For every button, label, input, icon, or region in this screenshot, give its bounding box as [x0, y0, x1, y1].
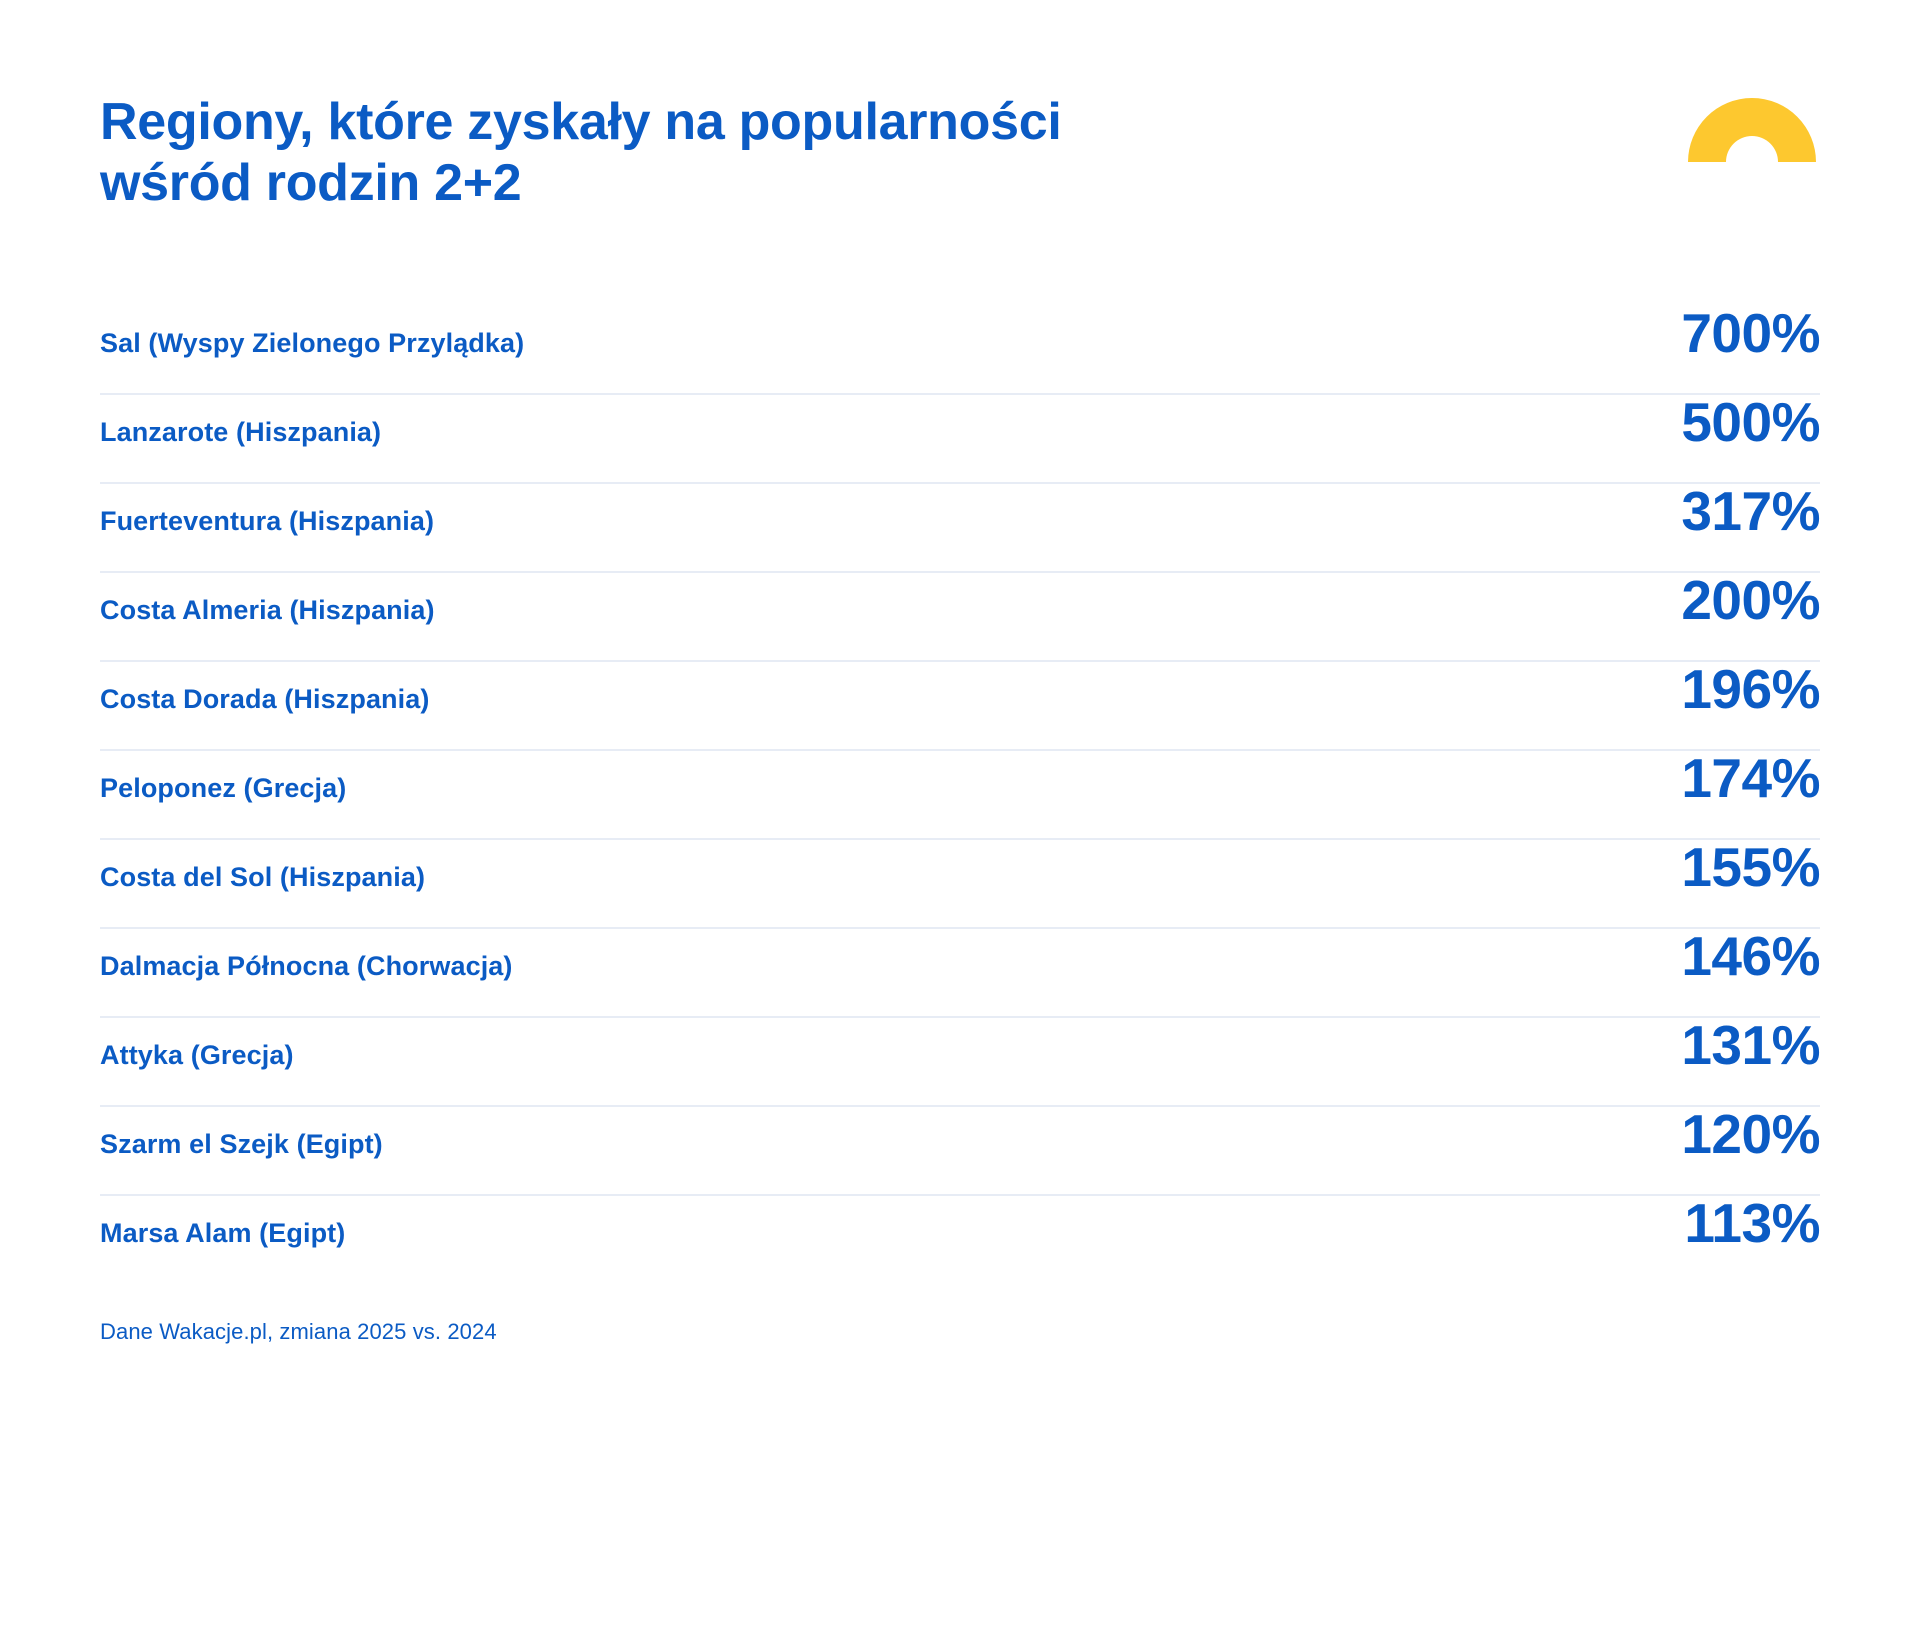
table-row: Costa Dorada (Hiszpania) 196%: [100, 662, 1820, 751]
table-row: Dalmacja Północna (Chorwacja) 146%: [100, 929, 1820, 1018]
table-row: Lanzarote (Hiszpania) 500%: [100, 395, 1820, 484]
source-note: Dane Wakacje.pl, zmiana 2025 vs. 2024: [100, 1319, 1820, 1345]
header: Regiony, które zyskały na popularności w…: [100, 0, 1820, 214]
region-value: 155%: [1620, 840, 1820, 895]
table-row: Sal (Wyspy Zielonego Przylądka) 700%: [100, 306, 1820, 395]
region-value: 120%: [1620, 1107, 1820, 1162]
region-value: 196%: [1620, 662, 1820, 717]
region-value: 146%: [1620, 929, 1820, 984]
table-row: Attyka (Grecja) 131%: [100, 1018, 1820, 1107]
region-label: Fuerteventura (Hiszpania): [100, 506, 434, 537]
region-value: 500%: [1620, 395, 1820, 450]
region-list: Sal (Wyspy Zielonego Przylądka) 700% Lan…: [100, 306, 1820, 1285]
region-value: 174%: [1620, 751, 1820, 806]
page-title-line-1: Regiony, które zyskały na popularności: [100, 92, 1061, 153]
region-label: Costa del Sol (Hiszpania): [100, 862, 425, 893]
page-title: Regiony, które zyskały na popularności w…: [100, 92, 1061, 214]
region-label: Marsa Alam (Egipt): [100, 1218, 345, 1249]
page-title-line-2: wśród rodzin 2+2: [100, 153, 1061, 214]
region-label: Sal (Wyspy Zielonego Przylądka): [100, 328, 524, 359]
region-label: Szarm el Szejk (Egipt): [100, 1129, 383, 1160]
region-label: Lanzarote (Hiszpania): [100, 417, 381, 448]
region-value: 113%: [1620, 1196, 1820, 1251]
region-label: Costa Almeria (Hiszpania): [100, 595, 435, 626]
region-label: Attyka (Grecja): [100, 1040, 294, 1071]
table-row: Fuerteventura (Hiszpania) 317%: [100, 484, 1820, 573]
region-label: Dalmacja Północna (Chorwacja): [100, 951, 513, 982]
region-value: 200%: [1620, 573, 1820, 628]
region-value: 131%: [1620, 1018, 1820, 1073]
region-value: 700%: [1620, 306, 1820, 361]
region-label: Costa Dorada (Hiszpania): [100, 684, 429, 715]
table-row: Costa Almeria (Hiszpania) 200%: [100, 573, 1820, 662]
region-label: Peloponez (Grecja): [100, 773, 346, 804]
table-row: Marsa Alam (Egipt) 113%: [100, 1196, 1820, 1285]
region-value: 317%: [1620, 484, 1820, 539]
table-row: Costa del Sol (Hiszpania) 155%: [100, 840, 1820, 929]
table-row: Szarm el Szejk (Egipt) 120%: [100, 1107, 1820, 1196]
table-row: Peloponez (Grecja) 174%: [100, 751, 1820, 840]
rainbow-arc-icon: [1688, 98, 1816, 167]
infographic-page: Regiony, które zyskały na popularności w…: [0, 0, 1920, 1635]
